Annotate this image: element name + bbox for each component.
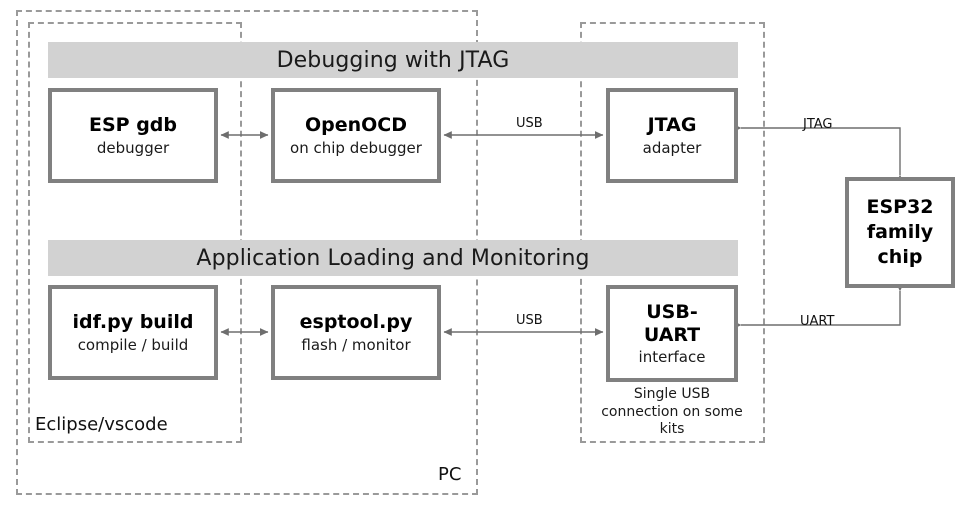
edge-label-usb-bottom: USB (516, 313, 543, 328)
edge-label-usb-top: USB (516, 116, 543, 131)
node-jtag-adapter-title: JTAG (648, 114, 697, 136)
node-esptool-py-subtitle: flash / monitor (301, 336, 410, 354)
node-usb-uart-title-line2: UART (644, 324, 700, 346)
node-idf-py-build[interactable]: idf.py build compile / build (48, 285, 218, 380)
node-idf-py-build-subtitle: compile / build (78, 336, 189, 354)
usb-uart-note-line2: connection on some (588, 404, 756, 422)
node-openocd-title: OpenOCD (305, 114, 407, 136)
node-openocd-subtitle: on chip debugger (290, 139, 422, 157)
node-openocd[interactable]: OpenOCD on chip debugger (271, 88, 441, 183)
node-jtag-adapter-subtitle: adapter (643, 139, 702, 157)
edge-label-uart: UART (800, 314, 834, 329)
connector-layer (0, 0, 966, 506)
usb-uart-note: Single USB connection on some kits (588, 386, 756, 439)
node-idf-py-build-title: idf.py build (73, 311, 194, 333)
node-usb-uart-subtitle: interface (639, 348, 706, 366)
usb-uart-note-line1: Single USB (588, 386, 756, 404)
node-esptool-py-title: esptool.py (300, 311, 413, 333)
node-esp32-title-line3: chip (878, 245, 923, 270)
usb-uart-note-line3: kits (588, 421, 756, 439)
node-esp-gdb-subtitle: debugger (97, 139, 169, 157)
node-jtag-adapter[interactable]: JTAG adapter (606, 88, 738, 183)
node-esp-gdb-title: ESP gdb (89, 114, 177, 136)
diagram-canvas: PC Eclipse/vscode Debugging with JTAG Ap… (0, 0, 966, 506)
node-usb-uart-title-line1: USB- (646, 301, 697, 323)
node-usb-uart[interactable]: USB- UART interface (606, 285, 738, 382)
node-esp32-title-line1: ESP32 (866, 195, 933, 220)
node-esp32-family-chip[interactable]: ESP32 family chip (845, 177, 955, 288)
node-esp-gdb[interactable]: ESP gdb debugger (48, 88, 218, 183)
edge-label-jtag: JTAG (803, 117, 833, 132)
node-esp32-title-line2: family (867, 220, 933, 245)
node-esptool-py[interactable]: esptool.py flash / monitor (271, 285, 441, 380)
